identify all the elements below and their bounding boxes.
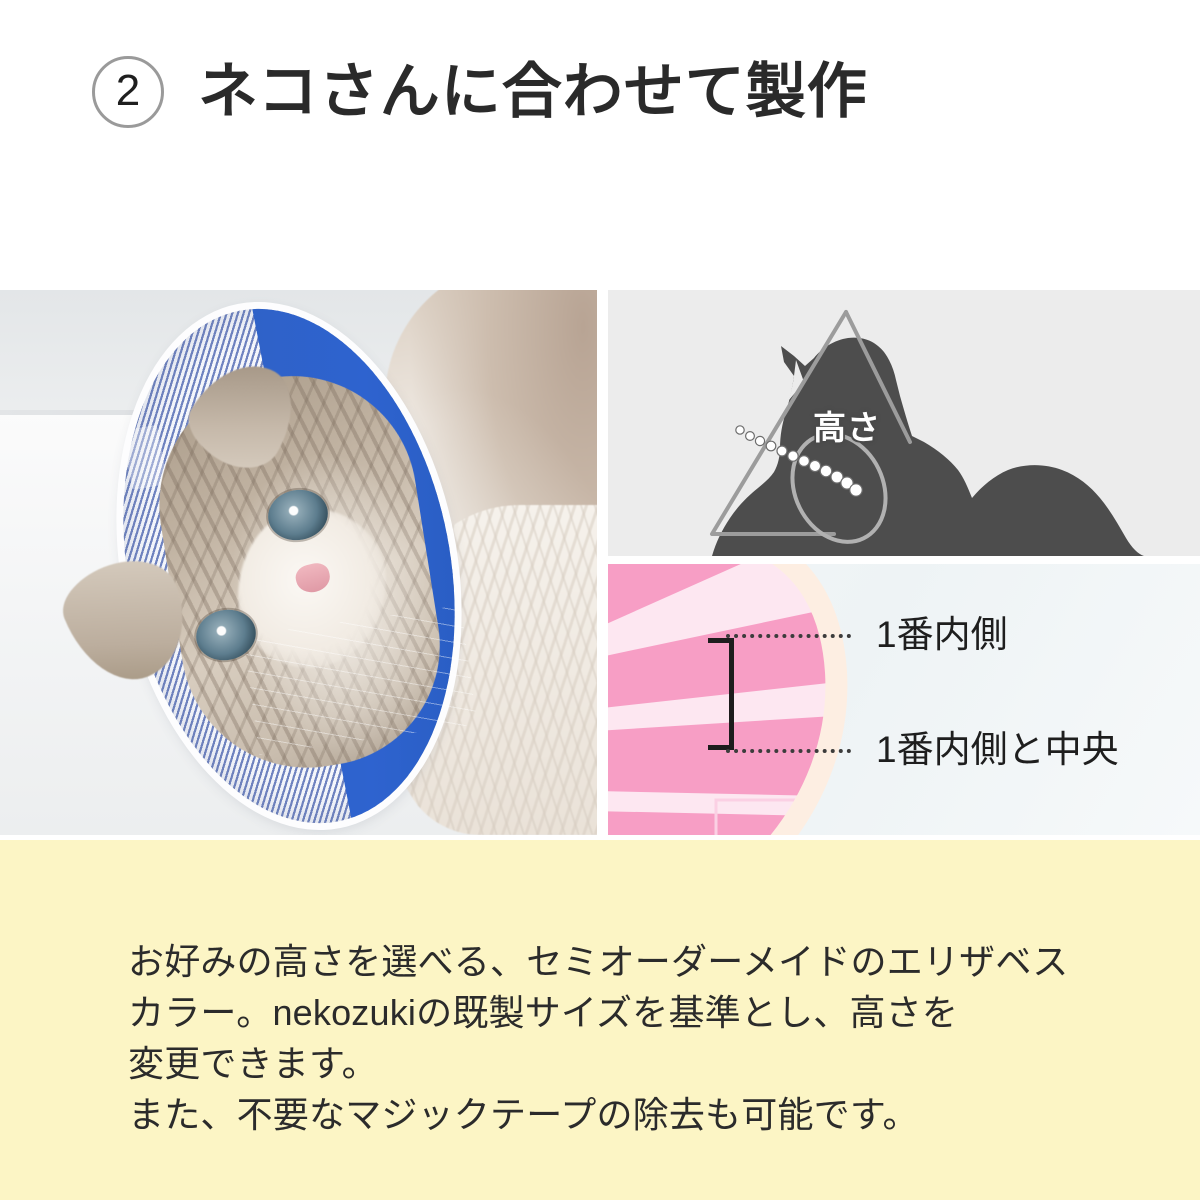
- description-line: 変更できます。: [128, 1038, 1118, 1089]
- cone-height-diagram-panel: 高さ: [608, 290, 1200, 556]
- page-header: 2 ネコさんに合わせて製作: [0, 0, 1200, 290]
- description-line: カラー。nekozukiの既製サイズを基準とし、高さを: [128, 987, 1118, 1038]
- media-grid: 高さ 1番内側 1番内側と中央: [0, 290, 1200, 835]
- height-label: 高さ: [813, 411, 881, 444]
- description-line: お好みの高さを選べる、セミオーダーメイドのエリザベス: [128, 936, 1118, 987]
- leader-line-inner: [726, 634, 851, 638]
- range-bracket: [708, 638, 734, 750]
- cat-wearing-collar-photo: [0, 290, 597, 835]
- step-number-badge: 2: [92, 56, 164, 128]
- diagram-svg: [608, 290, 1200, 556]
- collar-layers-panel: 1番内側 1番内側と中央: [608, 564, 1200, 835]
- leader-line-inner-center: [726, 749, 851, 753]
- description-line: また、不要なマジックテープの除去も可能です。: [128, 1089, 1118, 1140]
- description-text: お好みの高さを選べる、セミオーダーメイドのエリザベス カラー。nekozukiの…: [128, 936, 1118, 1140]
- page-title: ネコさんに合わせて製作: [198, 62, 868, 122]
- header-row: 2 ネコさんに合わせて製作: [92, 56, 868, 128]
- collar-label-inner: 1番内側: [876, 616, 1008, 653]
- collar-label-group: 1番内側 1番内側と中央: [608, 564, 1200, 835]
- description-band: お好みの高さを選べる、セミオーダーメイドのエリザベス カラー。nekozukiの…: [0, 840, 1200, 1200]
- collar-label-inner-center: 1番内側と中央: [876, 731, 1119, 768]
